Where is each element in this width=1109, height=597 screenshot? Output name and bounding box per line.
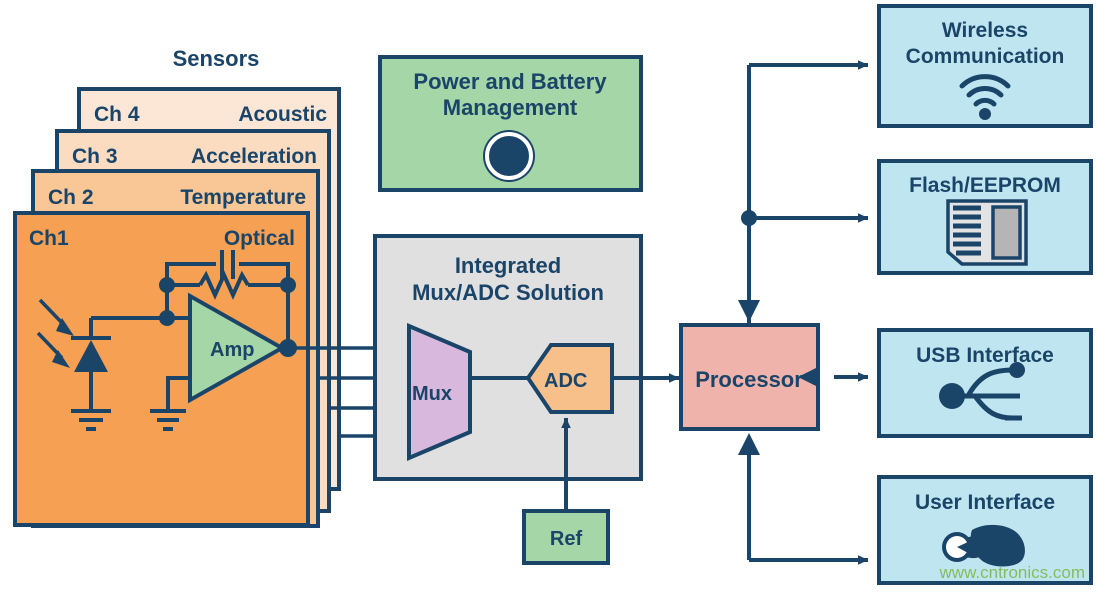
wireless-label-line1: Wireless — [942, 19, 1028, 42]
usb-interface-label: USB Interface — [916, 344, 1054, 367]
sensor-card-ch1-channel: Ch1 — [29, 227, 69, 250]
sensor-card-ch3-channel: Ch 3 — [72, 145, 118, 168]
sensor-card-ch4-type: Acoustic — [238, 103, 327, 126]
arrow-into-processor-top — [738, 300, 760, 322]
flash-eeprom-label: Flash/EEPROM — [909, 174, 1061, 197]
processor-bus-wires — [738, 65, 868, 560]
sensor-card-ch4-channel: Ch 4 — [94, 103, 140, 126]
sensor-card-ch1[interactable]: Ch1 Optical — [15, 213, 308, 525]
diagram-canvas: Sensors Ch 4 Acoustic Ch 3 Acceleration … — [0, 0, 1109, 597]
battery-coin-icon — [483, 130, 535, 182]
wireless-label-line2: Communication — [906, 45, 1065, 68]
sensor-card-ch3-type: Acceleration — [191, 145, 317, 168]
sensor-card-ch2-channel: Ch 2 — [48, 186, 94, 209]
sensors-heading: Sensors — [173, 46, 260, 71]
processor-label: Processor — [695, 367, 803, 392]
block-diagram: Sensors Ch 4 Acoustic Ch 3 Acceleration … — [0, 0, 1109, 597]
user-interface-label: User Interface — [915, 491, 1055, 514]
wireless-communication-block[interactable]: Wireless Communication — [879, 6, 1091, 126]
arrow-into-processor-bottom — [738, 433, 760, 455]
mux-adc-title-line1: Integrated — [455, 253, 561, 278]
power-block-line2: Management — [443, 95, 578, 120]
power-block-line1: Power and Battery — [413, 69, 607, 94]
usb-interface-block[interactable]: USB Interface — [879, 330, 1091, 436]
sd-card-icon — [948, 201, 1026, 264]
watermark: www.cntronics.com — [939, 563, 1085, 582]
sensor-card-ch1-type: Optical — [224, 227, 295, 250]
amp-label: Amp — [210, 339, 254, 361]
processor-block[interactable]: Processor — [681, 325, 818, 429]
mux-adc-title-line2: Mux/ADC Solution — [412, 280, 604, 305]
ref-block[interactable]: Ref — [524, 511, 608, 563]
flash-eeprom-block[interactable]: Flash/EEPROM — [879, 161, 1091, 273]
integrated-mux-adc-block[interactable]: Integrated Mux/ADC Solution Mux ADC — [375, 236, 641, 479]
ref-label: Ref — [550, 528, 583, 550]
adc-label: ADC — [544, 370, 587, 392]
power-battery-management-block[interactable]: Power and Battery Management — [380, 57, 641, 190]
sensor-card-ch2-type: Temperature — [180, 186, 306, 209]
mux-label: Mux — [412, 383, 452, 405]
